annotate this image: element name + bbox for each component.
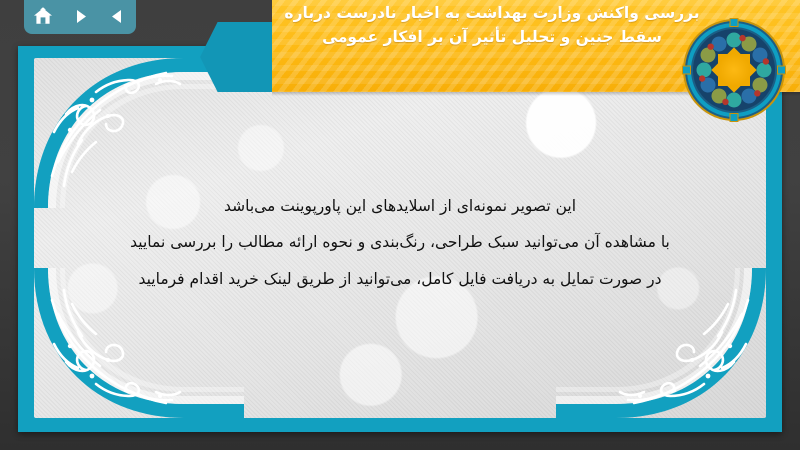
slide-canvas: این تصویر نمونه‌ای از اسلایدهای این پاور… [34, 58, 766, 418]
previous-slide-button[interactable] [104, 4, 130, 28]
triangle-right-icon [72, 8, 89, 25]
body-line: با مشاهده آن می‌توانید سبک طراحی، رنگ‌بن… [74, 224, 726, 260]
triangle-left-icon [109, 8, 126, 25]
slide-title: بررسی واکنش وزارت بهداشت به اخبار نادرست… [282, 2, 702, 49]
body-line: در صورت تمایل به دریافت فایل کامل، می‌تو… [74, 261, 726, 297]
home-icon [33, 7, 53, 26]
persian-medallion-ornament [682, 18, 786, 122]
home-button[interactable] [30, 4, 56, 28]
next-slide-button[interactable] [67, 4, 93, 28]
slide-body: این تصویر نمونه‌ای از اسلایدهای این پاور… [74, 188, 726, 297]
body-line: این تصویر نمونه‌ای از اسلایدهای این پاور… [74, 188, 726, 224]
slide-card: این تصویر نمونه‌ای از اسلایدهای این پاور… [18, 46, 782, 432]
slide-viewer: بررسی واکنش وزارت بهداشت به اخبار نادرست… [0, 0, 800, 450]
navigation-toolbar [24, 0, 136, 34]
